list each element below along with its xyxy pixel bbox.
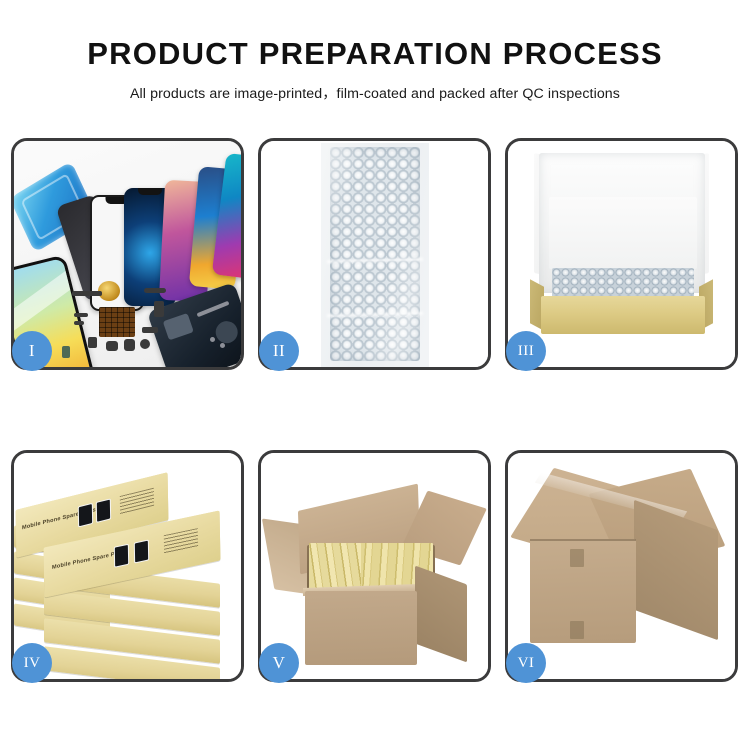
box-front-panel-icon xyxy=(541,296,705,334)
step-badge-3: III xyxy=(506,331,546,371)
page-title: PRODUCT PREPARATION PROCESS xyxy=(0,0,750,72)
step-badge-4: IV xyxy=(12,643,52,683)
screw-icon xyxy=(74,313,88,317)
step-badge-6: VI xyxy=(506,643,546,683)
notch-icon xyxy=(138,188,162,195)
foam-insert-icon xyxy=(549,197,697,269)
step-badge-1: I xyxy=(12,331,52,371)
wrap-highlight-icon xyxy=(330,147,420,361)
step-panel-3[interactable]: III xyxy=(505,138,738,370)
box-phone-graphic xyxy=(78,503,93,528)
box-phone-graphic xyxy=(114,544,129,568)
step-panel-5[interactable]: V xyxy=(258,450,491,682)
carton-front-icon xyxy=(305,591,417,665)
screw-icon xyxy=(220,343,225,348)
step-panel-4[interactable]: Mobile Phone Spare Parts Mobile Phone Sp… xyxy=(11,450,244,682)
phone-parts-illustration xyxy=(14,141,241,367)
connector-icon xyxy=(106,341,118,351)
page-subtitle: All products are image-printed，film-coat… xyxy=(0,72,750,103)
step-badge-2: II xyxy=(259,331,299,371)
vibrator-icon xyxy=(140,339,150,349)
step-panel-1[interactable]: I xyxy=(11,138,244,370)
box-phone-graphic xyxy=(134,539,149,563)
carton-side-icon xyxy=(415,566,467,663)
button-flex-icon xyxy=(154,301,164,317)
flex-cable-icon xyxy=(144,288,166,293)
screw-icon xyxy=(74,321,84,325)
product-preparation-infographic: PRODUCT PREPARATION PROCESS All products… xyxy=(0,0,750,750)
sealed-carton-illustration xyxy=(508,453,735,679)
box-stack: Mobile Phone Spare Parts Mobile Phone Sp… xyxy=(14,453,241,679)
battery-connector-icon xyxy=(62,346,70,358)
step-panel-6[interactable]: VI xyxy=(505,450,738,682)
carton-hand-hole-icon xyxy=(570,549,584,567)
step-panel-2[interactable]: II xyxy=(258,138,491,370)
sim-tray-icon xyxy=(142,327,158,333)
flex-cable-icon xyxy=(72,291,102,296)
camera-module-icon xyxy=(124,339,135,351)
screw-icon xyxy=(210,337,215,342)
box-phone-graphic xyxy=(96,498,111,523)
bubble-wrapped-item-icon xyxy=(552,268,694,299)
carton-hand-hole-icon xyxy=(570,621,584,639)
connector-icon xyxy=(88,337,97,348)
carton-filling-illustration xyxy=(261,453,488,679)
chip-array-icon xyxy=(99,307,135,337)
carton-seam-icon xyxy=(530,539,636,541)
box-stack-illustration: Mobile Phone Spare Parts Mobile Phone Sp… xyxy=(14,453,241,679)
header: PRODUCT PREPARATION PROCESS All products… xyxy=(0,0,750,103)
inner-box-illustration xyxy=(508,141,735,367)
steps-grid: I II III xyxy=(11,138,739,682)
step-badge-5: V xyxy=(259,643,299,683)
bubble-wrap-illustration xyxy=(261,141,488,367)
